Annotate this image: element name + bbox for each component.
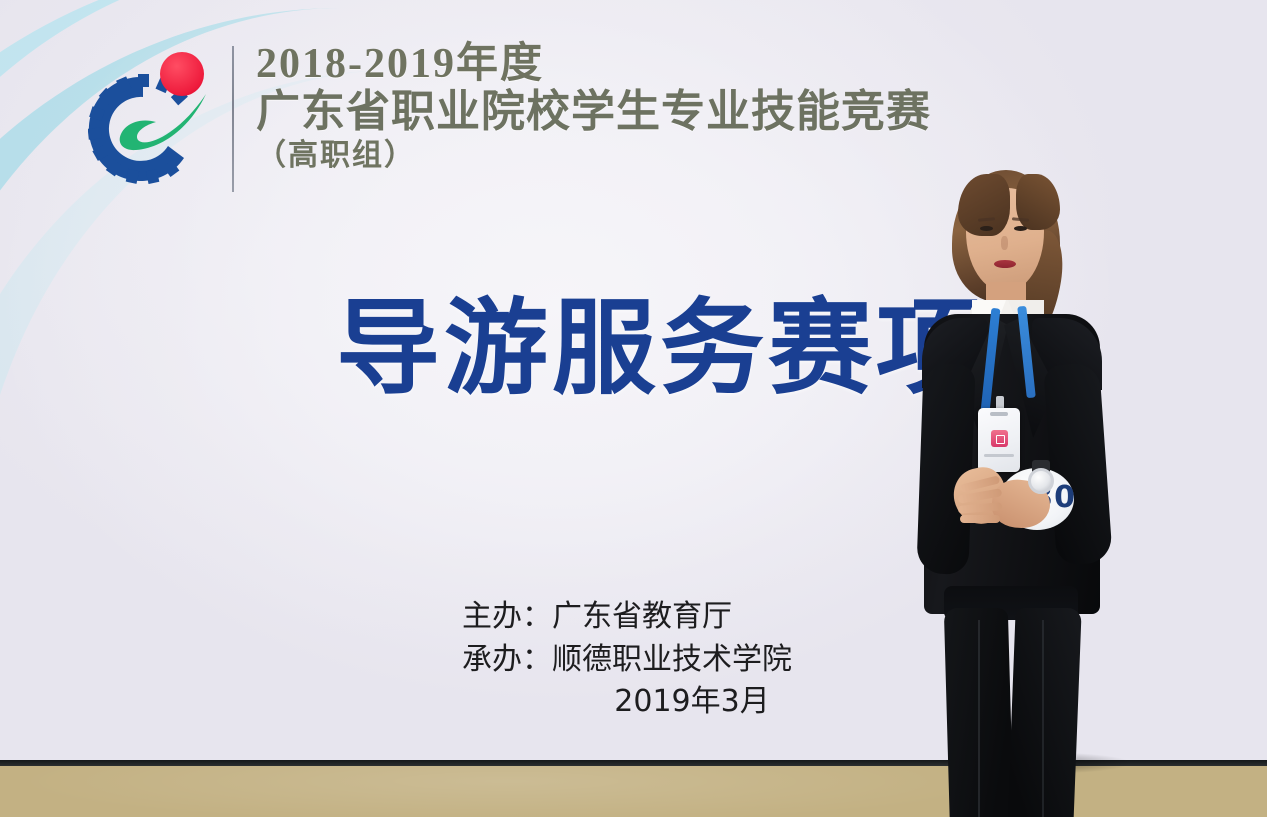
badge-slot: [990, 412, 1008, 416]
finger-4: [960, 515, 1000, 523]
eye-left: [980, 226, 993, 231]
competition-emblem: [86, 52, 216, 187]
badge-seal-icon: [991, 430, 1008, 447]
header-year-line: 2018-2019年度: [256, 42, 956, 87]
banner-footer-text: 主办：广东省教育厅 承办：顺德职业技术学院 2019年3月: [462, 596, 892, 724]
trouser-crease-left: [978, 620, 980, 817]
footer-coorganizer-line: 承办：顺德职业技术学院: [462, 639, 892, 682]
hair-fringe-right: [1016, 174, 1060, 230]
header-divider-line: [232, 46, 234, 192]
trouser-crease-right: [1042, 620, 1044, 817]
wristwatch-face: [1028, 468, 1054, 494]
main-event-title: 导游服务赛项: [336, 296, 984, 400]
header-title-line: 广东省职业院校学生专业技能竞赛: [256, 87, 956, 136]
photo-scene: 2018-2019年度 广东省职业院校学生专业技能竞赛 （高职组） 导游服务赛项…: [0, 0, 1267, 817]
header-group-line: （高职组）: [256, 136, 956, 177]
mouth: [994, 260, 1016, 268]
footer-organizer-line: 主办：广东省教育厅: [462, 596, 892, 639]
nose: [1001, 236, 1008, 250]
eye-right: [1014, 226, 1027, 231]
green-leaf-swoosh-icon: [116, 88, 208, 158]
badge-text-line: [984, 454, 1014, 457]
footer-date-line: 2019年3月: [462, 681, 892, 724]
trouser-leg-left: [944, 608, 1016, 817]
arm-left: [916, 363, 975, 575]
banner-header-text: 2018-2019年度 广东省职业院校学生专业技能竞赛 （高职组）: [256, 42, 956, 176]
person-standing: A30: [900, 168, 1130, 788]
